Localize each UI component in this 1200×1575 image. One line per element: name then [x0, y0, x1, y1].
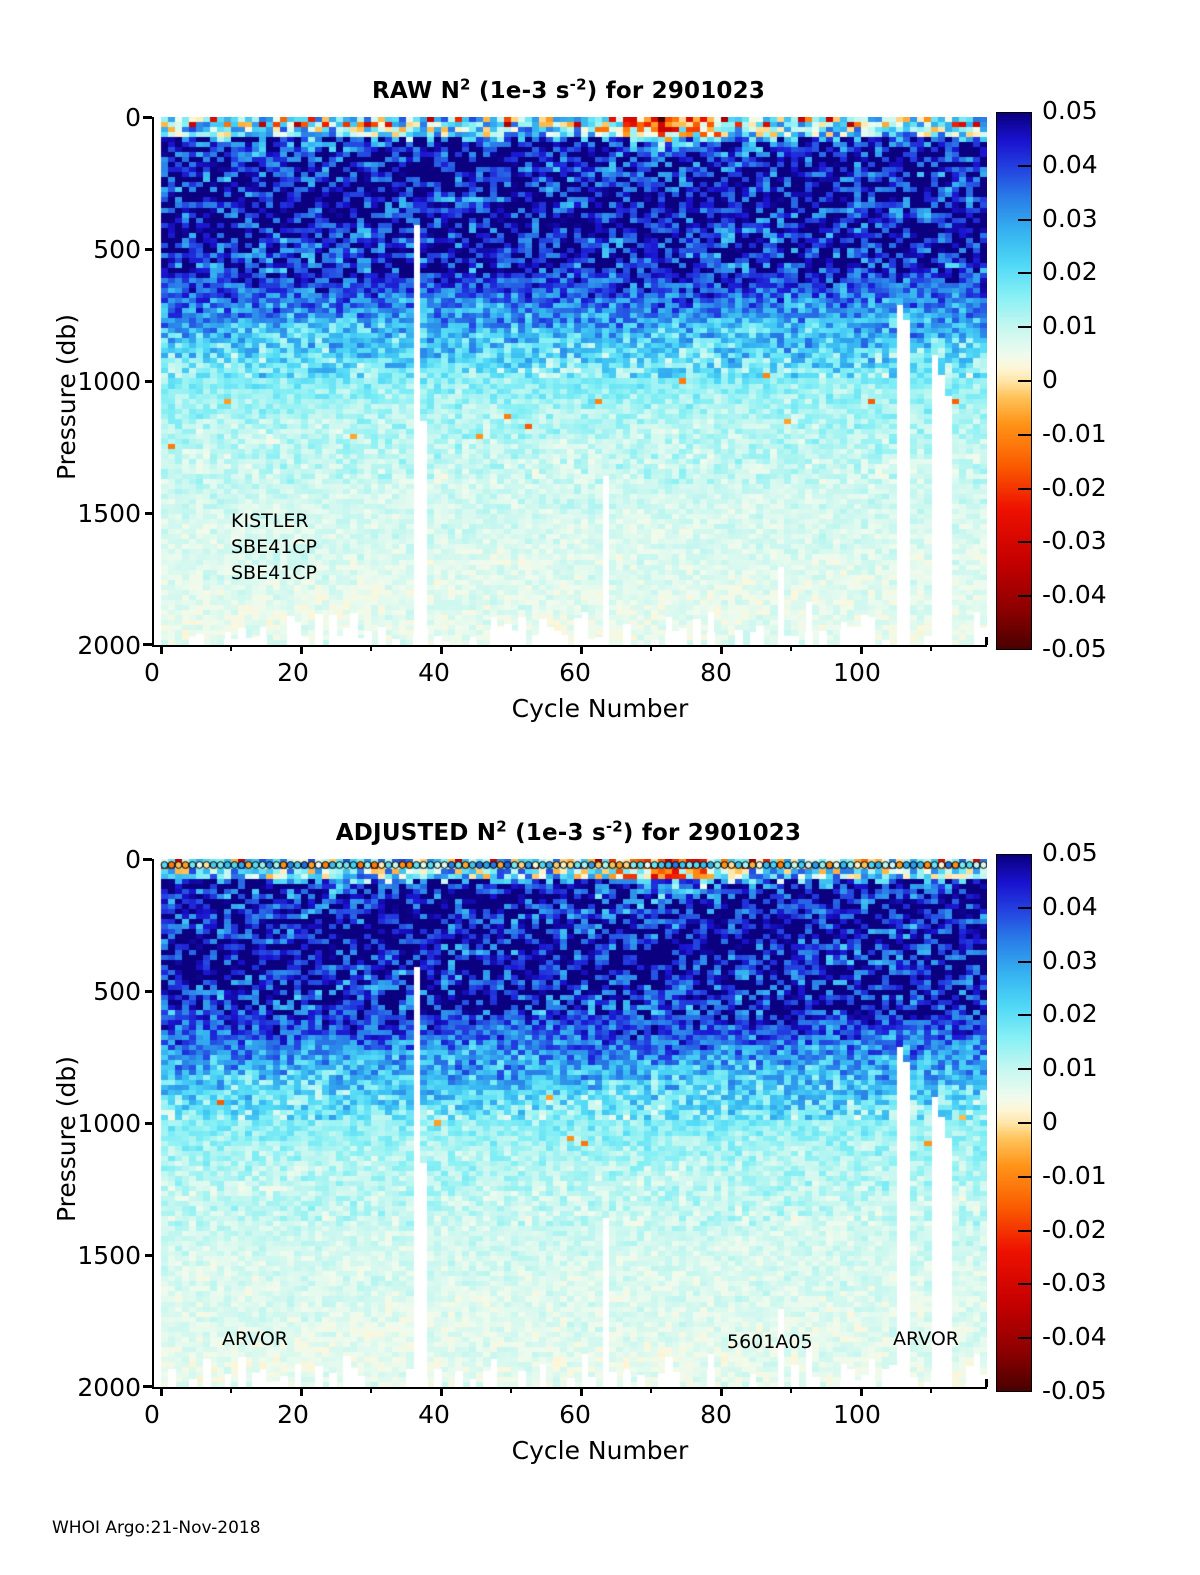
xtick-minor-1-10: [230, 1387, 232, 1393]
xtick-minor-0-110: [930, 645, 932, 651]
xtick-mark-1-0: [160, 1387, 163, 1396]
colorbar-tick-mark-0-8: [1018, 541, 1032, 543]
title-text-raw: RAW N: [372, 78, 460, 104]
xtick-minor-1-90: [790, 1387, 792, 1393]
colorbar-tick-label-1-0: 0.05: [1042, 838, 1098, 867]
ytick-label-raw-2000: 2000: [8, 631, 141, 660]
xtick-mark-0-4: [720, 645, 723, 654]
xtick-mark-1-1: [300, 1387, 303, 1396]
xtick-mark-0-2: [440, 645, 443, 654]
ytick-mark-1-500: [145, 990, 154, 993]
colorbar-tick-mark-0-5: [1018, 380, 1032, 382]
ytick-mark-1-1000: [145, 1122, 154, 1125]
title-float-id: ) for 2901023: [587, 78, 765, 104]
xtick-minor-1-110: [930, 1387, 932, 1393]
xlabel-raw: Cycle Number: [0, 694, 1200, 723]
colorbar-tick-mark-0-4: [1018, 326, 1032, 328]
title-superscript-2: 2: [460, 75, 471, 93]
colorbar-tick-mark-1-7: [1018, 1230, 1032, 1232]
xtick-label-raw-0: 0: [122, 658, 182, 687]
ytick-mark-raw-0: [143, 116, 152, 119]
xtick-mark-1-4: [720, 1387, 723, 1396]
colorbar-tick-label-0-8: -0.03: [1042, 526, 1107, 555]
xtick-label-raw-60: 60: [545, 658, 605, 687]
annotation-raw-2: SBE41CP: [231, 562, 317, 584]
colorbar-tick-label-1-5: 0: [1042, 1107, 1058, 1136]
xtick-minor-0-10: [230, 645, 232, 651]
title-text-adjusted: ADJUSTED N: [336, 820, 496, 846]
colorbar-tick-mark-0-9: [1018, 595, 1032, 597]
colorbar-tick-mark-0-3: [1018, 272, 1032, 274]
title-units-open-adj: (1e-3 s: [507, 820, 606, 846]
xtick-label-adj-100: 100: [827, 1400, 887, 1429]
colorbar-tick-mark-1-6: [1018, 1176, 1032, 1178]
plot-title-adjusted: ADJUSTED N2 (1e-3 s-2) for 2901023: [152, 820, 985, 846]
colorbar-tick-label-0-7: -0.02: [1042, 473, 1107, 502]
xtick-minor-0-30: [370, 645, 372, 651]
title-units-open: (1e-3 s: [471, 78, 570, 104]
xlabel-adjusted: Cycle Number: [0, 1436, 1200, 1465]
ytick-label-raw-500: 500: [8, 235, 141, 264]
colorbar-raw: 0.050.040.030.020.010-0.01-0.02-0.03-0.0…: [996, 112, 1196, 650]
colorbar-tick-label-0-9: -0.04: [1042, 580, 1107, 609]
xtick-minor-0-70: [650, 645, 652, 651]
xtick-mark-1-2: [440, 1387, 443, 1396]
ytick-mark-adj-2000: [143, 1385, 152, 1388]
colorbar-tick-label-1-6: -0.01: [1042, 1161, 1107, 1190]
colorbar-tick-mark-1-2: [1018, 961, 1032, 963]
title-float-id-adj: ) for 2901023: [623, 820, 801, 846]
xtick-minor-0-50: [510, 645, 512, 651]
ylabel-raw: Pressure (db): [52, 314, 81, 480]
colorbar-tick-label-1-7: -0.02: [1042, 1215, 1107, 1244]
ytick-mark-1-1500: [145, 1254, 154, 1257]
colorbar-tick-label-1-8: -0.03: [1042, 1268, 1107, 1297]
colorbar-tick-label-1-1: 0.04: [1042, 892, 1098, 921]
xtick-mark-0-3: [580, 645, 583, 654]
xtick-mark-0-5: [860, 645, 863, 654]
xtick-label-adj-40: 40: [404, 1400, 464, 1429]
annotation-adj-2: ARVOR: [893, 1328, 959, 1350]
annotation-raw-1: SBE41CP: [231, 536, 317, 558]
annotation-adj-1: 5601A05: [727, 1331, 813, 1353]
xaxis-right-end-0: [985, 637, 988, 645]
colorbar-tick-label-0-3: 0.02: [1042, 257, 1098, 286]
colorbar-tick-label-0-2: 0.03: [1042, 204, 1098, 233]
colorbar-tick-mark-0-7: [1018, 488, 1032, 490]
ylabel-adjusted: Pressure (db): [52, 1056, 81, 1222]
colorbar-tick-label-0-5: 0: [1042, 365, 1058, 394]
colorbar-tick-mark-0-1: [1018, 165, 1032, 167]
ytick-label-adj-500: 500: [8, 977, 141, 1006]
colorbar-adjusted: 0.050.040.030.020.010-0.01-0.02-0.03-0.0…: [996, 854, 1196, 1392]
title-superscript-neg2: -2: [570, 75, 587, 93]
colorbar-tick-mark-1-1: [1018, 907, 1032, 909]
xtick-label-adj-80: 80: [686, 1400, 746, 1429]
annotation-adj-0: ARVOR: [222, 1328, 288, 1350]
xtick-label-adj-20: 20: [263, 1400, 323, 1429]
xtick-mark-1-3: [580, 1387, 583, 1396]
ytick-mark-raw-2000: [143, 643, 152, 646]
ytick-mark-adj-0: [143, 858, 152, 861]
colorbar-tick-mark-1-9: [1018, 1337, 1032, 1339]
xtick-mark-0-1: [300, 645, 303, 654]
ytick-label-adj-1500: 1500: [8, 1241, 141, 1270]
colorbar-tick-mark-1-4: [1018, 1068, 1032, 1070]
colorbar-tick-mark-1-5: [1018, 1122, 1032, 1124]
colorbar-tick-label-0-1: 0.04: [1042, 150, 1098, 179]
colorbar-tick-label-0-6: -0.01: [1042, 419, 1107, 448]
axes-adjusted: [152, 859, 987, 1389]
xaxis-right-end-1: [985, 1379, 988, 1387]
panel-adjusted: ADJUSTED N2 (1e-3 s-2) for 2901023 0 500…: [0, 742, 1200, 1502]
xtick-mark-1-5: [860, 1387, 863, 1396]
xtick-minor-1-30: [370, 1387, 372, 1393]
footer-credit: WHOI Argo:21-Nov-2018: [52, 1518, 261, 1538]
colorbar-tick-label-0-0: 0.05: [1042, 96, 1098, 125]
heatmap-adjusted: [154, 859, 987, 1387]
ytick-mark-0-1500: [145, 512, 154, 515]
xtick-label-raw-100: 100: [827, 658, 887, 687]
title-superscript-2-adj: 2: [496, 817, 507, 835]
colorbar-tick-mark-1-3: [1018, 1014, 1032, 1016]
colorbar-tick-label-1-10: -0.05: [1042, 1376, 1107, 1405]
plot-title-raw: RAW N2 (1e-3 s-2) for 2901023: [152, 78, 985, 104]
colorbar-tick-mark-1-8: [1018, 1283, 1032, 1285]
xtick-minor-1-50: [510, 1387, 512, 1393]
ytick-label-adj-0: 0: [8, 845, 141, 874]
colorbar-tick-label-1-9: -0.04: [1042, 1322, 1107, 1351]
xtick-label-raw-80: 80: [686, 658, 746, 687]
annotation-raw-0: KISTLER: [231, 510, 309, 532]
ytick-label-raw-0: 0: [8, 103, 141, 132]
ytick-label-raw-1500: 1500: [8, 499, 141, 528]
colorbar-tick-label-1-2: 0.03: [1042, 946, 1098, 975]
xtick-label-raw-40: 40: [404, 658, 464, 687]
xtick-label-adj-60: 60: [545, 1400, 605, 1429]
xtick-mark-0-0: [160, 645, 163, 654]
colorbar-tick-label-0-4: 0.01: [1042, 311, 1098, 340]
ytick-mark-0-1000: [145, 380, 154, 383]
xtick-minor-1-70: [650, 1387, 652, 1393]
ytick-label-adj-2000: 2000: [8, 1373, 141, 1402]
xtick-label-raw-20: 20: [263, 658, 323, 687]
panel-raw: RAW N2 (1e-3 s-2) for 2901023 0 500 1000…: [0, 0, 1200, 760]
ytick-mark-0-500: [145, 248, 154, 251]
colorbar-tick-label-1-4: 0.01: [1042, 1053, 1098, 1082]
title-superscript-neg2-adj: -2: [606, 817, 623, 835]
xtick-minor-0-90: [790, 645, 792, 651]
colorbar-tick-label-1-3: 0.02: [1042, 999, 1098, 1028]
colorbar-tick-mark-0-2: [1018, 219, 1032, 221]
colorbar-tick-label-0-10: -0.05: [1042, 634, 1107, 663]
xtick-label-adj-0: 0: [122, 1400, 182, 1429]
colorbar-tick-mark-0-6: [1018, 434, 1032, 436]
